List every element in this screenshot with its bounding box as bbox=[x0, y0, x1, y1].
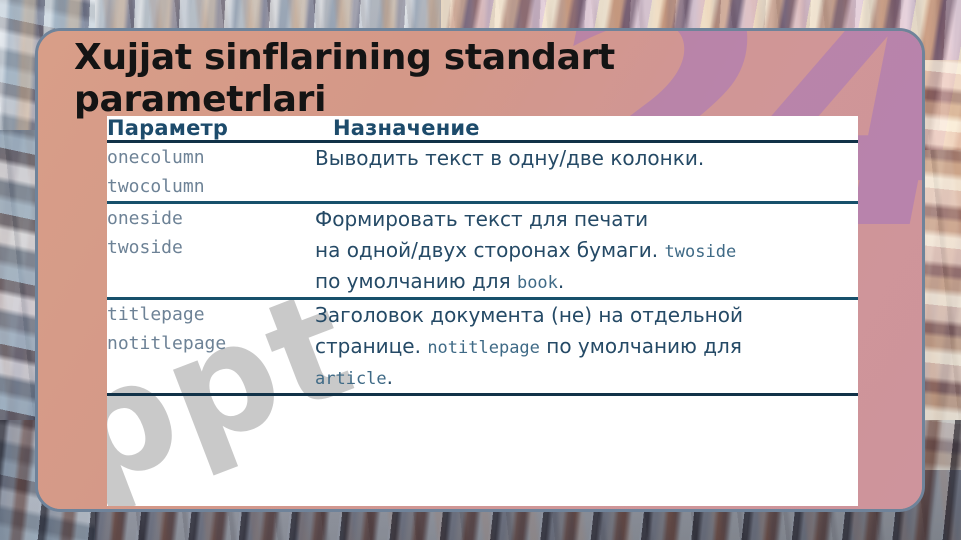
purpose-line: странице. notitlepage по умолчанию для bbox=[315, 331, 858, 362]
column-header-parameter: Параметр bbox=[107, 116, 315, 142]
table-header-row: Параметр Назначение bbox=[107, 116, 858, 142]
parameter-name: onecolumn bbox=[107, 143, 315, 172]
purpose-text: на одной/двух сторонах бумаги. bbox=[315, 238, 665, 262]
table-body: onecolumntwocolumnВыводить текст в одну/… bbox=[107, 142, 858, 401]
purpose-line: Формировать текст для печати bbox=[315, 204, 858, 235]
cell-parameter: onecolumntwocolumn bbox=[107, 142, 315, 203]
purpose-line: на одной/двух сторонах бумаги. twoside bbox=[315, 235, 858, 266]
cell-purpose: Выводить текст в одну/две колонки. bbox=[315, 142, 858, 203]
parameters-table: Параметр Назначение onecolumntwocolumnВы… bbox=[107, 116, 858, 400]
table-head: Параметр Назначение bbox=[107, 116, 858, 142]
parameter-name: titlepage bbox=[107, 300, 315, 329]
table-row: onecolumntwocolumnВыводить текст в одну/… bbox=[107, 142, 858, 203]
table-bottom-rule bbox=[107, 395, 858, 401]
purpose-text: Выводить текст в одну/две колонки. bbox=[315, 146, 704, 170]
slide-canvas: 24 Xujjat sinflarining standart parametr… bbox=[0, 0, 961, 540]
parameter-name: twocolumn bbox=[107, 172, 315, 201]
column-header-purpose: Назначение bbox=[315, 116, 858, 142]
purpose-line: по умолчанию для book. bbox=[315, 266, 858, 297]
cell-parameter: titlepagenotitlepage bbox=[107, 299, 315, 395]
table-row: titlepagenotitlepageЗаголовок документа … bbox=[107, 299, 858, 395]
bottom-rule bbox=[107, 395, 858, 401]
purpose-text: по умолчанию для bbox=[540, 334, 742, 358]
inline-code: book bbox=[517, 273, 558, 293]
purpose-text: Формировать текст для печати bbox=[315, 207, 648, 231]
cell-parameter: onesidetwoside bbox=[107, 203, 315, 299]
parameters-table-container: ppt Параметр Назначение onecolumntwocolu… bbox=[107, 116, 858, 506]
table-row: onesidetwosideФормировать текст для печа… bbox=[107, 203, 858, 299]
parameter-name: oneside bbox=[107, 204, 315, 233]
purpose-text: . bbox=[387, 365, 393, 389]
parameter-name: notitlepage bbox=[107, 329, 315, 358]
inline-code: article bbox=[315, 369, 387, 389]
cell-purpose: Формировать текст для печатина одной/дву… bbox=[315, 203, 858, 299]
purpose-text: по умолчанию для bbox=[315, 269, 517, 293]
content-panel: 24 Xujjat sinflarining standart parametr… bbox=[35, 28, 925, 512]
purpose-line: Выводить текст в одну/две колонки. bbox=[315, 143, 858, 174]
purpose-text: странице. bbox=[315, 334, 427, 358]
page-title: Xujjat sinflarining standart parametrlar… bbox=[74, 37, 774, 122]
purpose-text: Заголовок документа (не) на отдельной bbox=[315, 303, 743, 327]
parameter-name: twoside bbox=[107, 233, 315, 262]
purpose-text: . bbox=[558, 269, 564, 293]
purpose-line: Заголовок документа (не) на отдельной bbox=[315, 300, 858, 331]
inline-code: twoside bbox=[665, 242, 737, 262]
inline-code: notitlepage bbox=[427, 338, 540, 358]
cell-purpose: Заголовок документа (не) на отдельнойстр… bbox=[315, 299, 858, 395]
purpose-line: article. bbox=[315, 362, 858, 393]
